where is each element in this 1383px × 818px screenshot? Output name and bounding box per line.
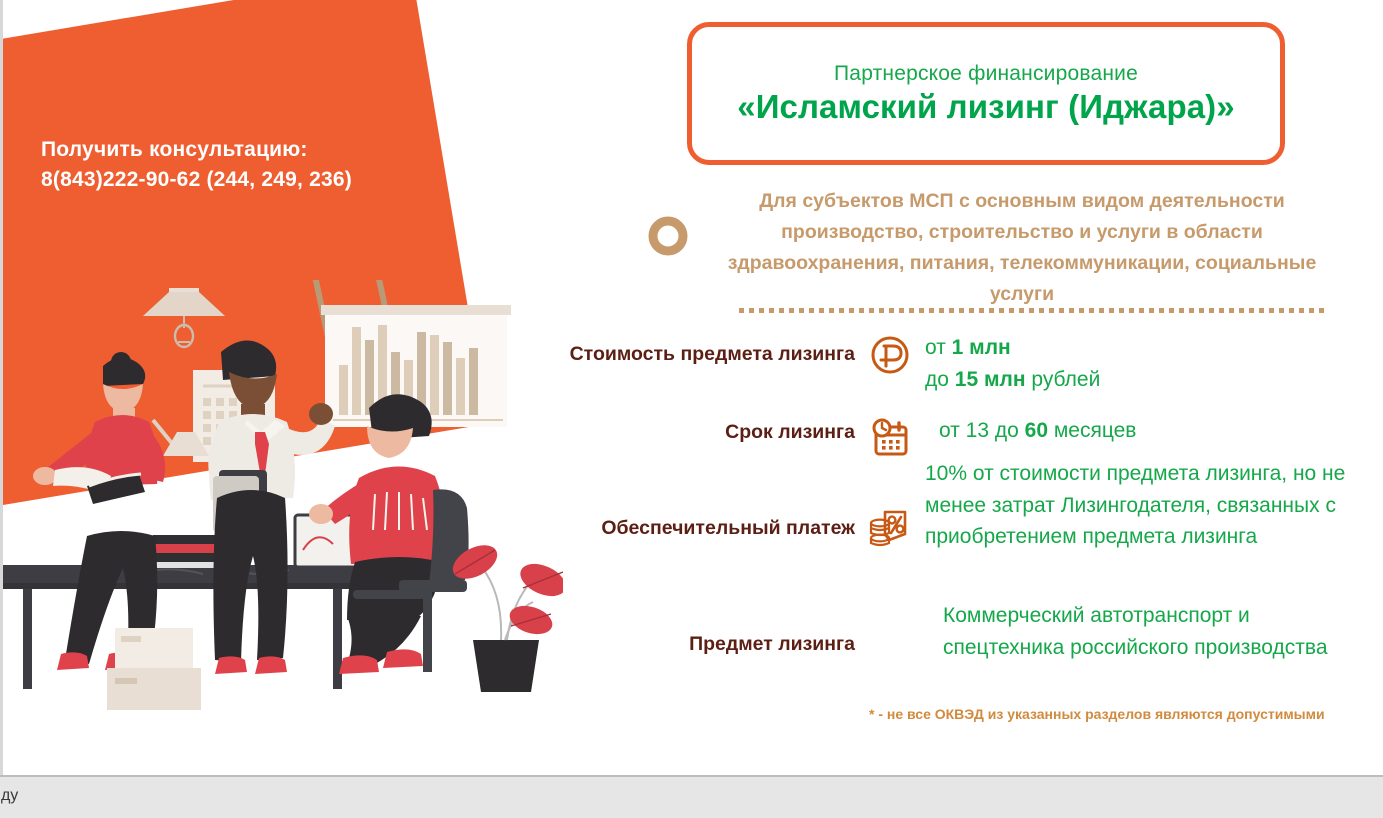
contact-heading: Получить консультацию:: [41, 135, 441, 165]
contact-block: Получить консультацию: 8(843)222-90-62 (…: [41, 135, 441, 196]
slide-root: Получить консультацию: 8(843)222-90-62 (…: [0, 0, 1383, 818]
spec-row-subject: Предмет лизинга Коммерческий автотранспо…: [559, 600, 1383, 663]
spec-value: Коммерческий автотранспорт и спецтехника…: [925, 600, 1375, 663]
potted-plant: [447, 538, 563, 692]
spec-value: от 1 млн до 15 млн рублей: [925, 332, 1100, 395]
lamp-icon: [143, 288, 225, 347]
footnote: * - не все ОКВЭД из указанных разделов я…: [869, 706, 1369, 722]
spec-label: Стоимость предмета лизинга: [559, 332, 855, 366]
spec-value: 10% от стоимости предмета лизинга, но не…: [925, 458, 1375, 553]
spec-label: Обеспечительный платеж: [559, 458, 855, 540]
dotted-divider: [739, 308, 1325, 313]
spec-row-term: Срок лизинга от 13 до 60 месяцев: [559, 415, 1359, 461]
storage-boxes: [107, 628, 201, 710]
coins-percent-icon: [867, 504, 913, 550]
spec-value: от 13 до 60 месяцев: [925, 415, 1136, 447]
office-team-illustration: [3, 280, 563, 775]
books-stack: [151, 535, 217, 568]
title-box: Партнерское финансирование «Исламский ли…: [687, 22, 1285, 165]
status-bar-text: йду: [0, 787, 18, 805]
spec-label: Предмет лизинга: [559, 600, 855, 656]
spec-row-cost: Стоимость предмета лизинга от 1 млн до 1…: [559, 332, 1359, 395]
status-bar: йду: [0, 775, 1383, 818]
calendar-clock-icon: [867, 415, 913, 461]
ring-icon: [648, 216, 688, 256]
presentation-slide: Получить консультацию: 8(843)222-90-62 (…: [0, 0, 1383, 775]
ruble-coin-icon: [867, 332, 913, 378]
title-main: «Исламский лизинг (Иджара)»: [737, 88, 1234, 126]
description-text: Для субъектов МСП с основным видом деяте…: [688, 186, 1348, 310]
person-woman: [33, 352, 165, 670]
title-subtitle: Партнерское финансирование: [834, 62, 1138, 86]
description-block: Для субъектов МСП с основным видом деяте…: [648, 186, 1348, 310]
spec-label: Срок лизинга: [559, 415, 855, 444]
spec-row-deposit: Обеспечительный платеж 10% от стоимости …: [559, 458, 1383, 553]
contact-phone: 8(843)222-90-62 (244, 249, 236): [41, 165, 441, 195]
